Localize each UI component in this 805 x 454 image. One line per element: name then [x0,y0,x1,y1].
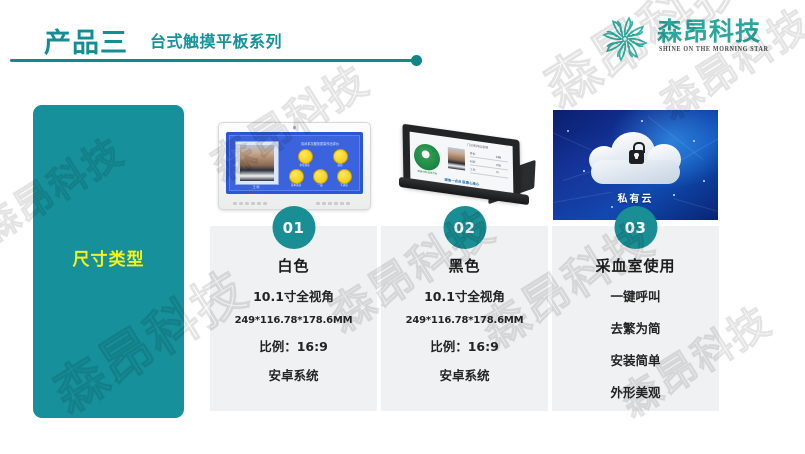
spec-line: 比例：16:9 [210,336,377,355]
card-spec-list: 10.1寸全视角 249*116.78*178.6MM 比例：16:9 安卓系统 [381,286,548,394]
product-card-01[interactable]: 王 明 ★★★★★ 请对本次服务质量作出评价 非常满意 满意 基本满意 一般 不… [210,110,377,411]
header-divider-dot-icon [411,55,422,66]
emoji-very-satisfied-icon [298,149,313,164]
emoji-basic-satisfied-icon [289,169,304,184]
hospital-logo-icon [414,142,440,172]
spec-line: 安装简单 [552,350,719,369]
cloud-background: 私有云 [553,110,718,220]
spec-line: 安卓系统 [210,365,377,384]
leaf-rosette-icon [599,13,651,65]
card-title: 黑色 [381,255,548,276]
card-title: 白色 [210,255,377,276]
spec-line: 一键呼叫 [552,286,719,305]
emoji-satisfied-icon [333,149,348,164]
cloud-label: 私有云 [553,190,718,205]
brand-tagline: SHINE ON THE MORNING STAR [659,46,769,54]
brand-name: 森昂科技 [657,12,761,48]
size-type-panel: 尺寸类型 [33,105,184,418]
header-divider [10,59,414,62]
speaker-grille-right-icon [316,201,356,205]
card-title: 采血室使用 [552,255,719,276]
spec-line: 比例：16:9 [381,336,548,355]
emoji-unsatisfied-icon [337,169,352,184]
emoji-label-2: 基本满意 [284,183,308,187]
patient-photo [235,141,279,185]
card-badge-number: 01 [272,206,315,249]
tablet-screen: 王 明 ★★★★★ 请对本次服务质量作出评价 非常满意 满意 基本满意 一般 不… [226,132,363,194]
product-card-02[interactable]: 健康中国 服务百姓 门诊医师信息牌 姓名： 刘明 科室： 内科 工号： 01 诚… [381,110,548,411]
slide-header: 产品三 台式触摸平板系列 [0,0,805,78]
page-subtitle: 台式触摸平板系列 [150,28,282,52]
spec-line: 安卓系统 [381,365,548,384]
emoji-neutral-icon [313,169,328,184]
white-tablet-device: 王 明 ★★★★★ 请对本次服务质量作出评价 非常满意 满意 基本满意 一般 不… [218,122,371,210]
spec-line: 249*116.78*178.6MM [381,315,548,326]
spec-line: 10.1寸全视角 [381,286,548,305]
rating-stars-icon: ★★★★★ [235,191,277,194]
spec-line: 249*116.78*178.6MM [210,315,377,326]
spec-line: 10.1寸全视角 [210,286,377,305]
emoji-label-1: 满意 [328,163,352,167]
emoji-label-0: 非常满意 [292,163,317,167]
page-title: 产品三 [44,21,128,60]
field-value-2: 01 [496,171,499,174]
slide-root: 产品三 台式触摸平板系列 [0,0,805,454]
black-tablet-device: 健康中国 服务百姓 门诊医师信息牌 姓名： 刘明 科室： 内科 工号： 01 诚… [387,124,542,214]
spec-line: 外形美观 [552,382,719,401]
card-badge-number: 03 [614,206,657,249]
patient-name: 王 明 [235,185,277,189]
field-value-1: 内科 [496,163,501,168]
product-card-03[interactable]: 私有云 03 采血室使用 一键呼叫 去繁为简 安装简单 外形美观 [552,110,719,411]
emoji-label-3: 一般 [309,183,331,187]
camera-icon [293,126,296,129]
survey-question: 请对本次服务质量作出评价 [285,141,355,146]
brand-logo: 森昂科技 SHINE ON THE MORNING STAR [599,10,791,66]
field-value-0: 刘明 [496,155,501,160]
emoji-label-4: 不满意 [332,183,356,187]
size-type-label: 尺寸类型 [33,245,184,270]
cloud-lock-icon [589,132,682,184]
card-spec-list: 10.1寸全视角 249*116.78*178.6MM 比例：16:9 安卓系统 [210,286,377,394]
doctor-photo [448,147,465,170]
speaker-grille-left-icon [233,201,273,205]
spec-line: 去繁为简 [552,318,719,337]
card-spec-list: 一键呼叫 去繁为简 安装简单 外形美观 [552,286,719,414]
card-badge-number: 02 [443,206,486,249]
